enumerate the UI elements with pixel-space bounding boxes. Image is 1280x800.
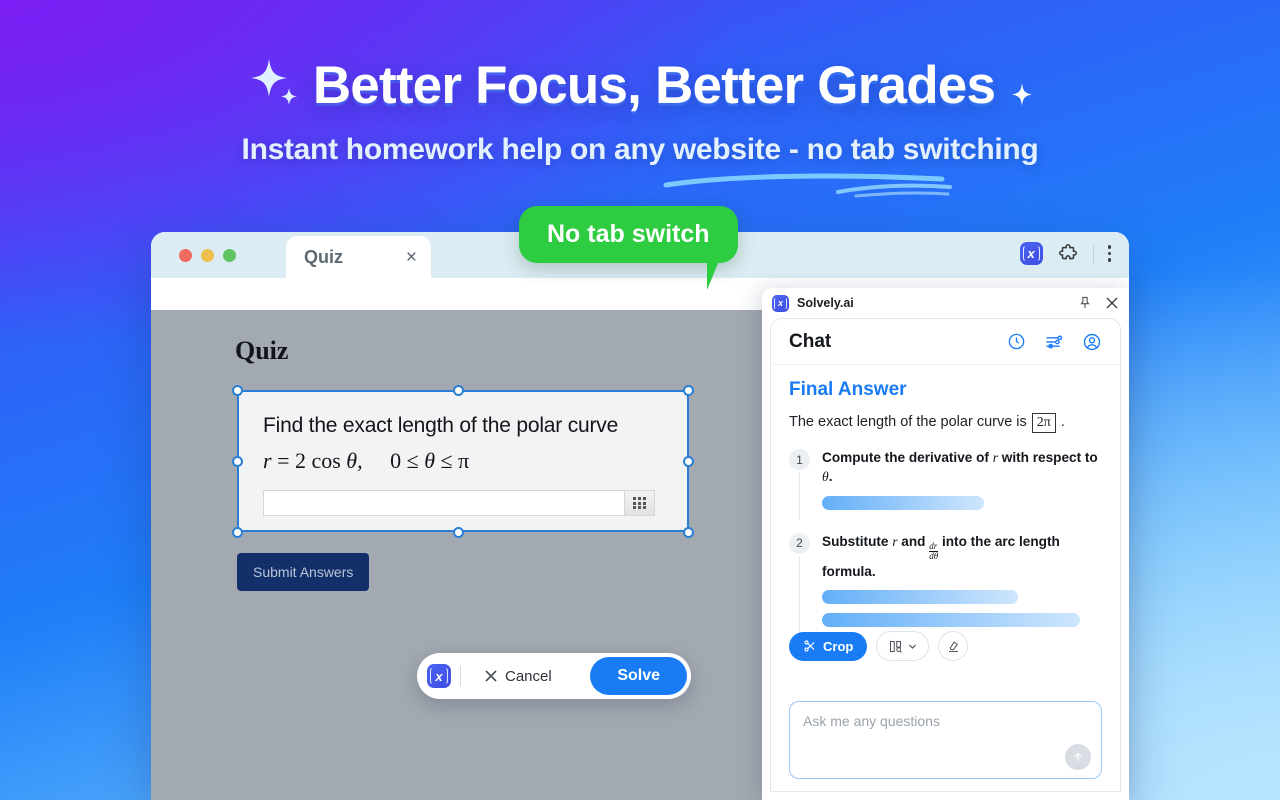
solvely-logo-icon: x (427, 664, 451, 688)
chat-input[interactable]: Ask me any questions (789, 701, 1102, 779)
eraser-icon (946, 639, 961, 654)
hero-title-row: Better Focus, Better Grades (0, 55, 1280, 116)
step-body: Substitute r and drdθ into the arc lengt… (822, 532, 1102, 627)
solution-step: 2 Substitute r and drdθ into the arc len… (789, 532, 1102, 627)
chat-header: Chat (771, 319, 1120, 365)
question-content: Find the exact length of the polar curve… (239, 392, 687, 474)
snapshot-dropdown[interactable] (876, 631, 929, 661)
cancel-button[interactable]: Cancel (470, 668, 560, 685)
eq-range-end: ≤ π (441, 448, 470, 473)
solvely-side-panel: x Solvely.ai Chat (762, 288, 1129, 800)
history-clock-icon[interactable] (1007, 332, 1026, 351)
step2-fraction: drdθ (929, 542, 938, 562)
settings-sliders-icon[interactable] (1044, 332, 1064, 352)
solve-toolbar: x Cancel Solve (417, 653, 691, 699)
selected-question-box[interactable]: Find the exact length of the polar curve… (237, 390, 689, 532)
submit-answers-button[interactable]: Submit Answers (237, 553, 369, 591)
browser-toolbar-actions: x (1020, 242, 1111, 265)
eq-theta: θ, (346, 448, 362, 473)
resize-handle-tl[interactable] (232, 385, 243, 396)
tab-label: Quiz (304, 247, 343, 268)
answer-boxed-value: 2π (1032, 413, 1056, 433)
eq-operator: = 2 cos (277, 448, 341, 473)
step1-text-c: . (829, 469, 833, 484)
question-equation: r = 2 cos θ, 0 ≤ θ ≤ π (263, 448, 663, 474)
quiz-heading: Quiz (235, 336, 288, 366)
sparkle-icon (1009, 82, 1035, 108)
chat-input-placeholder: Ask me any questions (803, 713, 940, 729)
resize-handle-br[interactable] (683, 527, 694, 538)
step-text: Substitute r and drdθ into the arc lengt… (822, 532, 1102, 581)
resize-handle-bl[interactable] (232, 527, 243, 538)
crop-button[interactable]: Crop (789, 632, 867, 661)
step2-text-b: and (898, 534, 930, 549)
arrow-up-icon (1071, 750, 1085, 764)
chat-title: Chat (789, 331, 831, 353)
loading-skeleton (822, 590, 1018, 604)
close-window-dot[interactable] (179, 249, 192, 262)
answer-suffix: . (1061, 414, 1065, 430)
resize-handle-tm[interactable] (453, 385, 464, 396)
step-number: 2 (789, 533, 810, 554)
close-icon[interactable] (1105, 296, 1119, 310)
extensions-puzzle-icon[interactable] (1057, 243, 1079, 265)
panel-titlebar: x Solvely.ai (762, 288, 1129, 318)
solvebar-divider (460, 666, 461, 686)
hero-subtitle-wrap: Instant homework help on any website - n… (0, 133, 1280, 167)
resize-handle-ml[interactable] (232, 456, 243, 467)
step1-text-a: Compute the derivative of (822, 450, 993, 465)
minimize-window-dot[interactable] (201, 249, 214, 262)
eq-r: r (263, 448, 272, 473)
resize-handle-tr[interactable] (683, 385, 694, 396)
panel-tools: Crop (789, 631, 968, 661)
solvely-logo-icon: x (772, 295, 789, 312)
answer-prefix: The exact length of the polar curve is (789, 414, 1027, 430)
loading-skeleton (822, 496, 984, 510)
panel-titlebar-actions (1078, 296, 1119, 310)
page-title: Better Focus, Better Grades (313, 55, 995, 116)
no-tab-switch-badge: No tab switch (519, 206, 738, 263)
tab-close-icon[interactable]: × (406, 248, 417, 267)
account-circle-icon[interactable] (1082, 332, 1102, 352)
scissors-icon (803, 639, 817, 653)
chat-header-actions (1007, 332, 1102, 352)
crop-label: Crop (823, 639, 853, 654)
solution-step: 1 Compute the derivative of r with respe… (789, 448, 1102, 510)
step1-text-b: with respect to (998, 450, 1098, 465)
resize-handle-mr[interactable] (683, 456, 694, 467)
answer-input[interactable] (263, 490, 655, 516)
question-text: Find the exact length of the polar curve (263, 414, 663, 438)
window-traffic-lights (179, 249, 236, 262)
fraction-numerator: dr (929, 542, 938, 551)
badge-tail (707, 256, 721, 290)
maximize-window-dot[interactable] (223, 249, 236, 262)
chat-card: Chat Final Answer The exact length of th… (770, 318, 1121, 792)
step-number: 1 (789, 449, 810, 470)
step-text: Compute the derivative of r with respect… (822, 448, 1102, 487)
eraser-button[interactable] (938, 631, 968, 661)
solve-button[interactable]: Solve (590, 657, 687, 695)
step1-var-theta: θ (822, 469, 829, 484)
solvely-extension-icon[interactable]: x (1020, 242, 1043, 265)
final-answer-text: The exact length of the polar curve is 2… (789, 413, 1102, 433)
cancel-label: Cancel (505, 668, 552, 685)
underline-accent (660, 168, 960, 202)
keypad-grid-icon[interactable] (624, 491, 654, 515)
step2-text-a: Substitute (822, 534, 892, 549)
sparkle-icon (245, 55, 301, 111)
step-connector (799, 472, 800, 520)
final-answer-title: Final Answer (789, 379, 1102, 401)
hero-section: Better Focus, Better Grades Instant home… (0, 0, 1280, 205)
chevron-down-icon (908, 642, 917, 651)
send-button[interactable] (1065, 744, 1091, 770)
browser-tab-quiz[interactable]: Quiz × (286, 236, 431, 278)
chat-body: Final Answer The exact length of the pol… (771, 365, 1120, 627)
hero-subtitle: Instant homework help on any website - n… (242, 133, 1039, 167)
browser-menu-icon[interactable] (1108, 245, 1111, 261)
pin-icon[interactable] (1078, 296, 1092, 310)
eq-range-theta: θ (424, 448, 435, 473)
step-connector (799, 556, 800, 637)
loading-skeleton (822, 613, 1080, 627)
step-body: Compute the derivative of r with respect… (822, 448, 1102, 510)
eq-range-start: 0 ≤ (390, 448, 419, 473)
close-icon (484, 669, 498, 683)
toolbar-divider (1093, 245, 1094, 263)
screenshot-search-icon (888, 639, 903, 654)
resize-handle-bm[interactable] (453, 527, 464, 538)
panel-brand-label: Solvely.ai (797, 296, 854, 310)
fraction-denominator: dθ (929, 551, 938, 561)
